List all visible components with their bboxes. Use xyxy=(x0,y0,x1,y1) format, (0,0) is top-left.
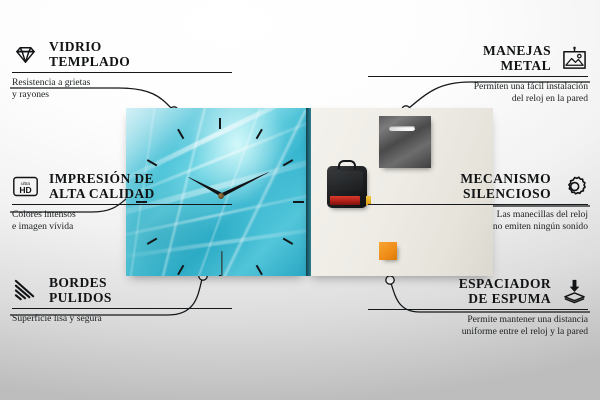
clock-tick xyxy=(177,129,184,140)
diamond-icon xyxy=(12,41,39,68)
feature-title: VIDRIO TEMPLADO xyxy=(49,40,130,69)
feature-espaciador-de-espuma: ESPACIADOR DE ESPUMA Permite mantener un… xyxy=(368,277,588,337)
feature-divider xyxy=(12,308,232,309)
mechanism-body-panel xyxy=(331,171,363,191)
feature-manejas-metal: MANEJAS METAL Permiten una fácil instala… xyxy=(368,44,588,104)
foam-spacer-pad xyxy=(379,242,397,260)
feature-header: ultra HD IMPRESIÓN DE ALTA CALIDAD xyxy=(12,172,232,201)
feature-header: BORDES PULIDOS xyxy=(12,276,232,305)
feature-title: MECANISMO SILENCIOSO xyxy=(460,172,551,201)
gear-icon xyxy=(561,173,588,200)
metal-hanger-plate xyxy=(379,116,431,168)
feature-title: MANEJAS METAL xyxy=(483,44,551,73)
clock-tick xyxy=(219,118,221,129)
hanger-slot xyxy=(389,126,415,131)
feature-header: ESPACIADOR DE ESPUMA xyxy=(368,277,588,306)
feature-subtitle: Resistencia a grietas y rayones xyxy=(12,77,232,100)
feature-bordes-pulidos: BORDES PULIDOS Superficie lisa y segura xyxy=(12,276,232,325)
clock-tick xyxy=(177,265,184,276)
feature-divider xyxy=(368,204,588,205)
clock-tick xyxy=(283,238,294,245)
feature-vidrio-templado: VIDRIO TEMPLADO Resistencia a grietas y … xyxy=(12,40,232,100)
feature-mecanismo-silencioso: MECANISMO SILENCIOSO Las manecillas del … xyxy=(368,172,588,232)
mechanism-hanging-loop xyxy=(338,160,356,169)
feature-title: BORDES PULIDOS xyxy=(49,276,112,305)
feature-divider xyxy=(368,309,588,310)
feature-header: MECANISMO SILENCIOSO xyxy=(368,172,588,201)
feature-subtitle: Permiten una fácil instalación del reloj… xyxy=(368,81,588,104)
feature-header: MANEJAS METAL xyxy=(368,44,588,73)
feature-title: IMPRESIÓN DE ALTA CALIDAD xyxy=(49,172,155,201)
feature-impresion-alta-calidad: ultra HD IMPRESIÓN DE ALTA CALIDAD Color… xyxy=(12,172,232,232)
feature-subtitle: Permite mantener una distancia uniforme … xyxy=(368,314,588,337)
feature-divider xyxy=(12,72,232,73)
ultra-hd-icon: ultra HD xyxy=(12,173,39,200)
clock-tick xyxy=(293,201,304,203)
svg-text:HD: HD xyxy=(19,185,31,195)
mechanism-battery xyxy=(330,196,360,205)
feature-subtitle: Colores intensos e imagen vívida xyxy=(12,209,232,232)
clock-tick xyxy=(256,265,263,276)
feature-header: VIDRIO TEMPLADO xyxy=(12,40,232,69)
feature-subtitle: Superficie lisa y segura xyxy=(12,313,232,325)
foam-spacer-icon xyxy=(561,278,588,305)
feature-divider xyxy=(368,76,588,77)
panel-left-edge xyxy=(307,108,311,276)
clock-tick xyxy=(256,129,263,140)
feature-title: ESPACIADOR DE ESPUMA xyxy=(459,277,551,306)
feature-subtitle: Las manecillas del reloj no emiten ningú… xyxy=(368,209,588,232)
clock-mechanism xyxy=(327,166,367,208)
polished-edges-icon xyxy=(12,277,39,304)
infographic-canvas: VIDRIO TEMPLADO Resistencia a grietas y … xyxy=(0,0,600,400)
feature-divider xyxy=(12,204,232,205)
wall-hanger-icon xyxy=(561,45,588,72)
clock-tick xyxy=(147,238,158,245)
